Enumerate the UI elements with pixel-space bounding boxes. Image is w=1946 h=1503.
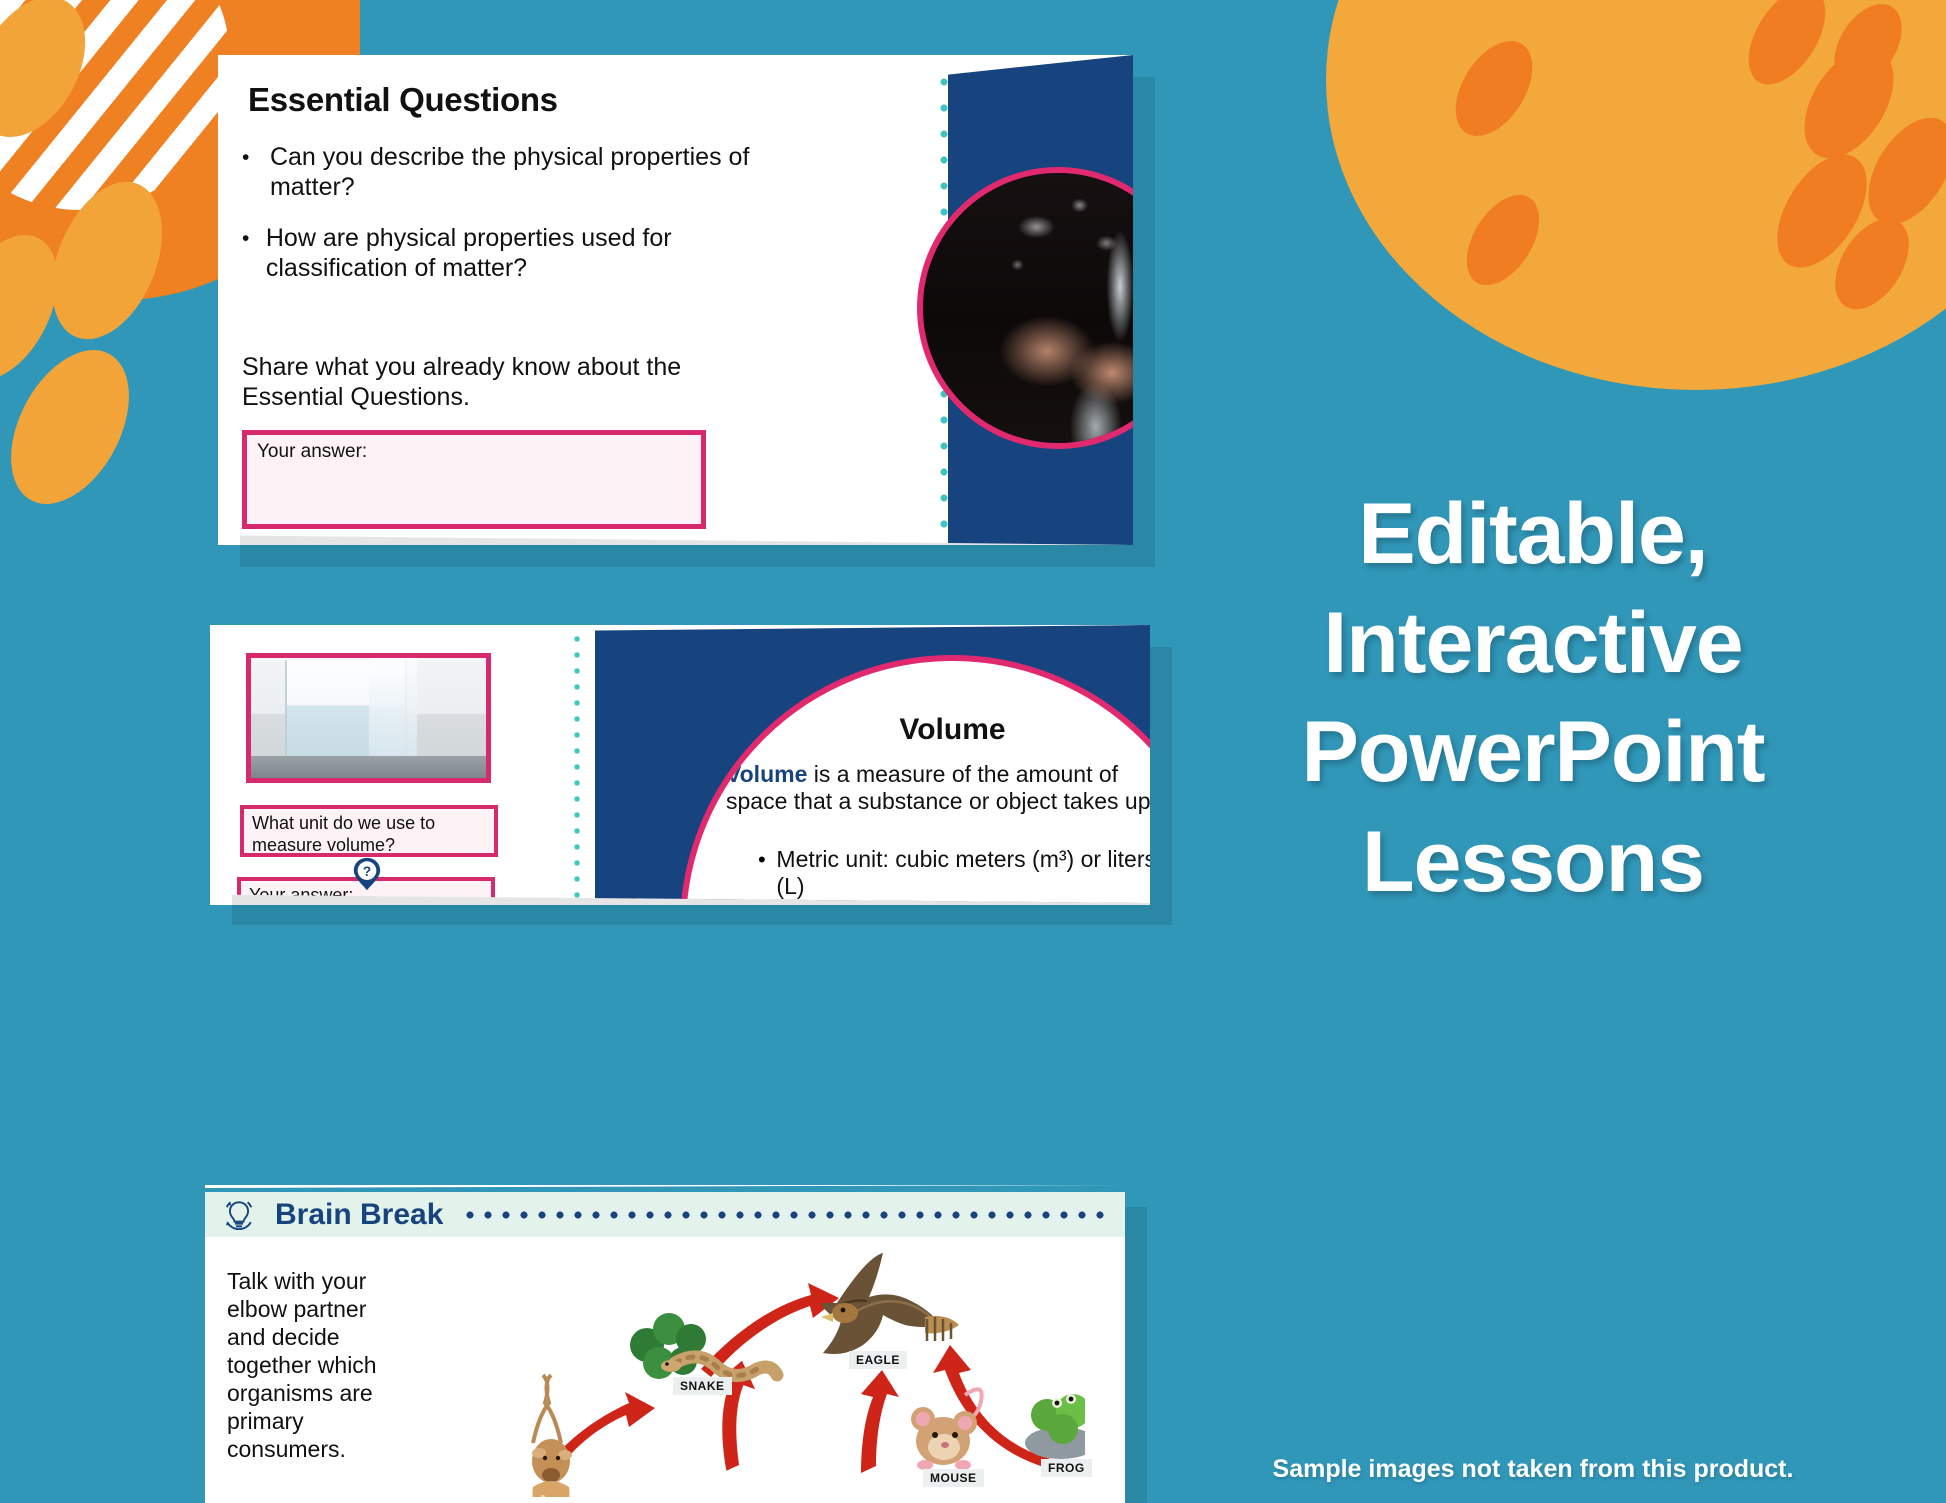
answer-input-box[interactable]: Your answer: (242, 430, 706, 529)
share-prompt-text: Share what you already know about the Es… (242, 353, 772, 412)
food-web-diagram: SNAKE EAGLE MOUSE FROG (525, 1247, 1085, 1497)
lightbulb-refresh-icon (219, 1195, 259, 1235)
definition-term: Volume (726, 761, 807, 787)
slide-brain-break[interactable]: Brain Break Talk with your elbow partner… (205, 1185, 1125, 1503)
panel-title: Volume (686, 713, 1150, 747)
deer-illustration (532, 1375, 572, 1497)
diagram-label-mouse: MOUSE (923, 1469, 984, 1487)
essential-questions-list: • Can you describe the physical properti… (242, 143, 802, 305)
volume-bullet-list: • Metric unit: cubic meters (m³) or lite… (758, 846, 1150, 903)
slide-essential-questions[interactable]: Essential Questions • Can you describe t… (218, 55, 1133, 545)
question-text: Can you describe the physical properties… (270, 143, 802, 202)
frog-illustration (1025, 1394, 1085, 1459)
dotted-divider (573, 631, 581, 899)
slide-canvas: What unit do we use to measure volume? ?… (210, 625, 1150, 903)
answer-label: Your answer: (257, 441, 367, 463)
headline-line-3: PowerPoint (1120, 698, 1946, 807)
question-mark-pin-icon[interactable]: ? (350, 857, 384, 891)
diagram-label-snake: SNAKE (673, 1377, 732, 1395)
volume-definition: Volume is a measure of the amount of spa… (726, 761, 1150, 815)
brain-break-instruction: Talk with your elbow partner and decide … (227, 1267, 402, 1463)
headline-line-2: Interactive (1120, 589, 1946, 698)
disclaimer-text: Sample images not taken from this produc… (1120, 1455, 1946, 1484)
bullet-text: Metric unit: cubic meters (m³) or liters… (776, 846, 1150, 900)
headline-line-4: Lessons (1120, 808, 1946, 917)
eagle-illustration (821, 1253, 959, 1354)
svg-text:?: ? (363, 864, 371, 879)
promo-headline: Editable, Interactive PowerPoint Lessons (1120, 480, 1946, 917)
bullet-icon: • (758, 846, 776, 900)
beaker-photo (246, 653, 491, 783)
bullet-icon: • (242, 224, 266, 283)
brain-break-header: Brain Break (205, 1185, 1125, 1237)
list-item: • How are physical properties used for c… (242, 224, 802, 283)
slide-volume[interactable]: What unit do we use to measure volume? ?… (210, 625, 1150, 905)
brain-break-title: Brain Break (275, 1198, 443, 1232)
diagram-label-eagle: EAGLE (849, 1351, 907, 1369)
list-item: • Can you describe the physical properti… (242, 143, 802, 202)
slide-canvas: Essential Questions • Can you describe t… (218, 55, 1133, 545)
diagram-label-frog: FROG (1041, 1459, 1092, 1477)
slide-canvas: Brain Break Talk with your elbow partner… (205, 1185, 1125, 1503)
list-item: • Metric unit: cubic meters (m³) or lite… (758, 846, 1150, 900)
slide-title: Essential Questions (248, 81, 558, 119)
question-text: What unit do we use to measure volume? (252, 813, 492, 857)
headline-line-1: Editable, (1120, 480, 1946, 589)
dotted-rule (461, 1210, 1111, 1220)
bullet-icon: • (242, 143, 270, 202)
question-box: What unit do we use to measure volume? (240, 805, 498, 857)
question-text: How are physical properties used for cla… (266, 224, 802, 283)
